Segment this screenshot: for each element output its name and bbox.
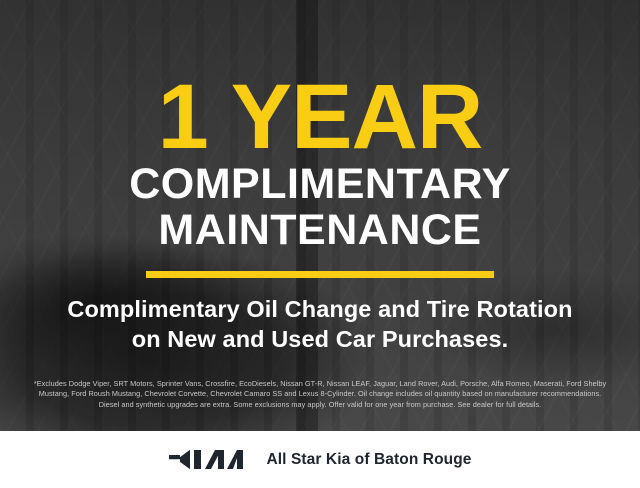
headline-maintenance: MAINTENANCE xyxy=(158,209,481,253)
subheadline-line-1: Complimentary Oil Change and Tire Rotati… xyxy=(67,294,572,325)
dealer-name: All Star Kia of Baton Rouge xyxy=(266,451,471,469)
headline-year: 1 YEAR xyxy=(158,78,483,157)
hero-section: 1 YEAR COMPLIMENTARY MAINTENANCE Complim… xyxy=(0,0,640,431)
kia-logo-icon xyxy=(168,448,244,471)
disclaimer-text: *Excludes Dodge Viper, SRT Motors, Sprin… xyxy=(14,379,626,410)
headline-complimentary: COMPLIMENTARY xyxy=(129,163,511,207)
yellow-divider-rule xyxy=(146,271,494,278)
disclaimer-line-1: *Excludes Dodge Viper, SRT Motors, Sprin… xyxy=(14,379,626,389)
promo-banner: 1 YEAR COMPLIMENTARY MAINTENANCE Complim… xyxy=(0,0,640,488)
dealer-footer: All Star Kia of Baton Rouge xyxy=(0,431,640,488)
subheadline-line-2: on New and Used Car Purchases. xyxy=(67,324,572,355)
disclaimer-line-2: Mustang, Ford Roush Mustang, Chevrolet C… xyxy=(14,389,626,399)
disclaimer-line-3: Diesel and synthetic upgrades are extra.… xyxy=(14,400,626,410)
subheadline: Complimentary Oil Change and Tire Rotati… xyxy=(67,294,572,355)
promo-copy-stack: 1 YEAR COMPLIMENTARY MAINTENANCE Complim… xyxy=(0,0,640,431)
